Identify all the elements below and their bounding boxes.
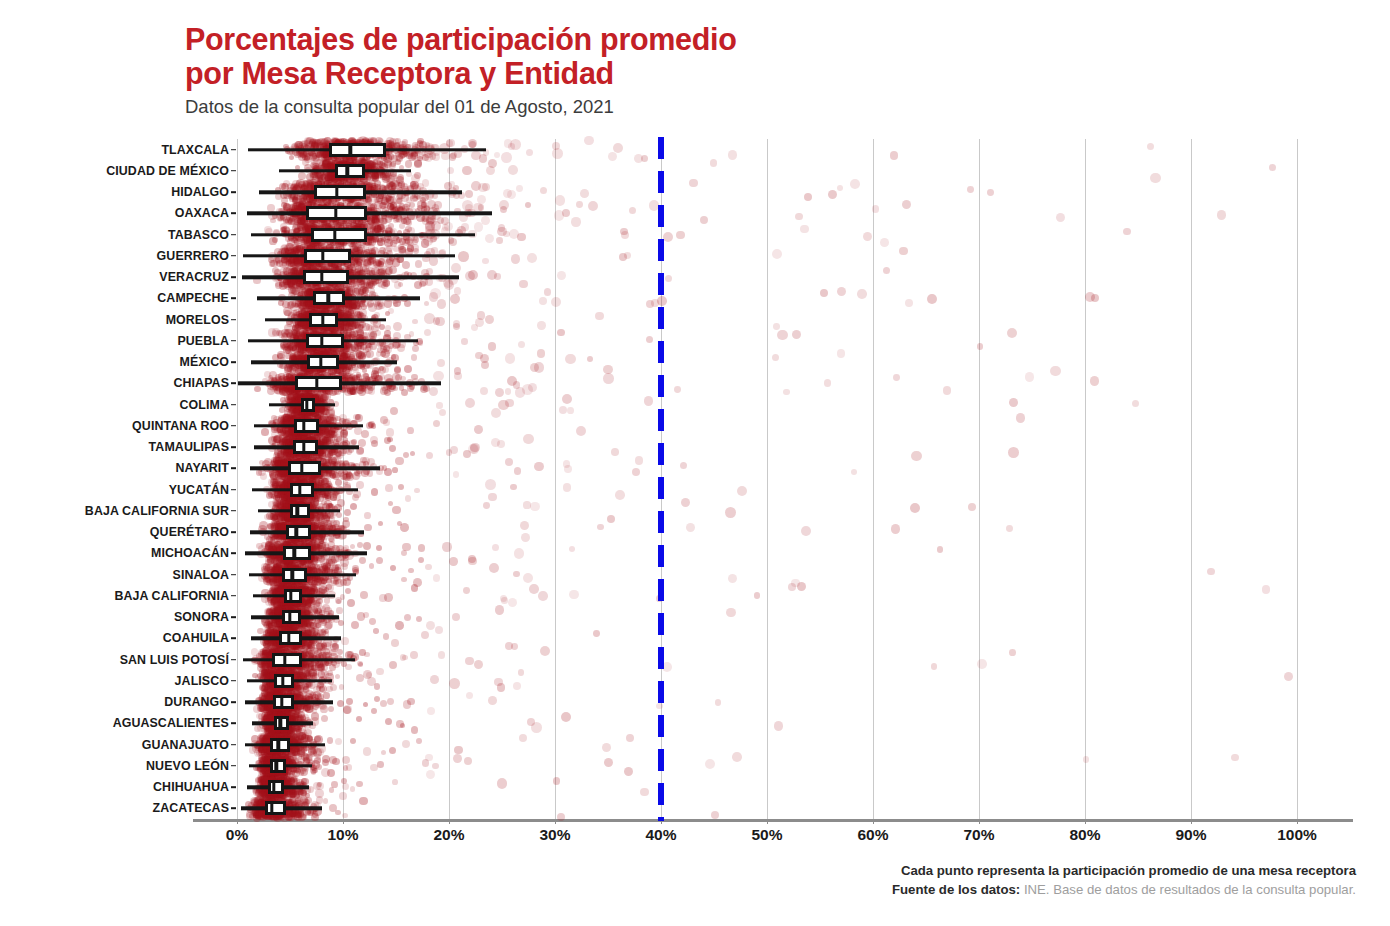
scatter-point xyxy=(345,146,351,152)
scatter-point xyxy=(346,176,354,184)
scatter-point xyxy=(401,550,407,556)
scatter-point xyxy=(269,729,275,735)
scatter-point xyxy=(289,528,297,536)
scatter-point xyxy=(350,738,357,745)
scatter-point xyxy=(294,722,302,730)
scatter-point xyxy=(391,354,399,362)
scatter-point xyxy=(274,716,279,721)
scatter-point xyxy=(328,536,334,542)
scatter-point xyxy=(283,726,292,735)
scatter-point xyxy=(417,138,424,145)
scatter-point xyxy=(268,665,274,671)
scatter-point xyxy=(302,313,309,320)
scatter-point xyxy=(505,388,511,394)
scatter-point xyxy=(291,631,296,636)
scatter-point xyxy=(321,573,329,581)
scatter-point xyxy=(295,504,303,512)
scatter-point xyxy=(358,439,366,447)
scatter-point xyxy=(372,215,380,223)
scatter-point xyxy=(298,528,304,534)
scatter-point xyxy=(324,251,331,258)
scatter-point xyxy=(287,743,293,749)
scatter-point xyxy=(311,580,318,587)
scatter-point xyxy=(301,747,307,753)
scatter-point xyxy=(324,409,331,416)
scatter-point xyxy=(284,545,291,552)
scatter-point xyxy=(271,724,278,731)
scatter-point xyxy=(308,527,313,532)
scatter-point xyxy=(360,234,366,240)
scatter-point xyxy=(350,139,355,144)
scatter-point xyxy=(265,770,273,778)
scatter-point xyxy=(303,652,310,659)
scatter-point xyxy=(271,670,278,677)
scatter-point xyxy=(363,227,370,234)
scatter-point xyxy=(314,202,320,208)
scatter-point xyxy=(283,267,292,276)
scatter-point xyxy=(348,217,357,226)
scatter-point xyxy=(305,324,312,331)
scatter-point xyxy=(275,612,280,617)
scatter-point xyxy=(279,659,287,667)
scatter-point xyxy=(347,196,352,201)
scatter-point xyxy=(262,661,270,669)
scatter-point xyxy=(326,343,331,348)
scatter-point xyxy=(331,615,336,620)
scatter-point xyxy=(317,150,324,157)
scatter-point xyxy=(308,399,313,404)
scatter-point xyxy=(328,504,335,511)
scatter-point xyxy=(302,190,309,197)
scatter-point xyxy=(279,260,287,268)
scatter-point xyxy=(299,600,308,609)
scatter-point xyxy=(335,277,342,284)
scatter-point xyxy=(292,513,298,519)
scatter-point xyxy=(303,150,309,156)
scatter-point xyxy=(279,626,286,633)
scatter-point xyxy=(326,365,332,371)
boxplot-whisker xyxy=(243,658,354,661)
scatter-point xyxy=(300,332,308,340)
scatter-point xyxy=(309,233,317,241)
scatter-point xyxy=(287,473,294,480)
scatter-point xyxy=(292,144,298,150)
scatter-point xyxy=(307,299,316,308)
scatter-point xyxy=(316,197,321,202)
scatter-point xyxy=(293,468,301,476)
scatter-point xyxy=(300,570,309,579)
scatter-point xyxy=(340,328,348,336)
scatter-point xyxy=(283,717,289,723)
scatter-point xyxy=(308,333,315,340)
scatter-point xyxy=(358,160,366,168)
scatter-point xyxy=(298,457,306,465)
scatter-point xyxy=(374,267,379,272)
scatter-point xyxy=(294,576,302,584)
scatter-point xyxy=(283,514,290,521)
scatter-point xyxy=(314,519,322,527)
scatter-point xyxy=(299,409,308,418)
scatter-point xyxy=(307,436,315,444)
scatter-point xyxy=(273,672,282,681)
scatter-point xyxy=(306,596,314,604)
scatter-point xyxy=(264,703,271,710)
scatter-point xyxy=(294,800,302,808)
scatter-point xyxy=(312,426,318,432)
scatter-point xyxy=(288,612,295,619)
scatter-point xyxy=(338,257,346,265)
scatter-point xyxy=(351,303,357,309)
scatter-point xyxy=(305,228,314,237)
scatter-point xyxy=(281,575,287,581)
scatter-point xyxy=(300,471,309,480)
scatter-point xyxy=(293,457,301,465)
scatter-point xyxy=(298,338,304,344)
scatter-point xyxy=(268,649,276,657)
scatter-point xyxy=(276,609,283,616)
scatter-point xyxy=(302,472,308,478)
scatter-point xyxy=(301,675,307,681)
scatter-point xyxy=(272,692,280,700)
scatter-point xyxy=(283,698,289,704)
scatter-point xyxy=(295,423,303,431)
scatter-point xyxy=(268,769,273,774)
scatter-point xyxy=(293,724,300,731)
scatter-point xyxy=(284,558,290,564)
scatter-point xyxy=(287,742,293,748)
scatter-point xyxy=(309,627,316,634)
scatter-point xyxy=(279,799,286,806)
scatter-point xyxy=(357,149,364,156)
scatter-point xyxy=(315,276,323,284)
scatter-point xyxy=(313,362,319,368)
scatter-point xyxy=(371,217,379,225)
scatter-point xyxy=(309,446,315,452)
scatter-point xyxy=(292,422,300,430)
scatter-point xyxy=(345,292,350,297)
scatter-point xyxy=(314,507,320,513)
scatter-point xyxy=(313,145,319,151)
scatter-point xyxy=(284,589,291,596)
scatter-point xyxy=(710,159,718,167)
scatter-point xyxy=(254,744,261,751)
scatter-point xyxy=(276,469,283,476)
scatter-point xyxy=(283,592,289,598)
scatter-point xyxy=(324,276,332,284)
scatter-point xyxy=(259,721,268,730)
scatter-point xyxy=(295,366,302,373)
scatter-point xyxy=(274,525,282,533)
scatter-point xyxy=(327,171,335,179)
scatter-point xyxy=(316,748,324,756)
scatter-point xyxy=(300,721,306,727)
scatter-point xyxy=(289,508,296,515)
scatter-point xyxy=(301,336,310,345)
scatter-point xyxy=(292,415,298,421)
scatter-point xyxy=(265,641,271,647)
scatter-point xyxy=(280,785,288,793)
scatter-point xyxy=(304,434,312,442)
scatter-point xyxy=(333,267,341,275)
scatter-point xyxy=(425,145,435,155)
scatter-point xyxy=(276,704,282,710)
scatter-point xyxy=(327,330,333,336)
scatter-point xyxy=(321,579,327,585)
scatter-point xyxy=(292,732,299,739)
scatter-point xyxy=(274,747,280,753)
scatter-point xyxy=(280,766,288,774)
scatter-point xyxy=(319,572,327,580)
scatter-point xyxy=(266,670,273,677)
scatter-point xyxy=(312,563,318,569)
scatter-point xyxy=(272,614,278,620)
scatter-point xyxy=(304,155,312,163)
scatter-point xyxy=(280,456,287,463)
scatter-point xyxy=(313,511,318,516)
scatter-point xyxy=(531,722,542,733)
scatter-point xyxy=(305,293,313,301)
scatter-point xyxy=(357,447,363,453)
scatter-point xyxy=(320,329,328,337)
scatter-point xyxy=(283,725,291,733)
scatter-point xyxy=(270,552,277,559)
scatter-point xyxy=(348,140,357,149)
scatter-point xyxy=(353,228,360,235)
scatter-point xyxy=(293,396,301,404)
scatter-point xyxy=(328,232,336,240)
scatter-point xyxy=(357,175,363,181)
scatter-point xyxy=(307,435,315,443)
y-axis-label-campeche: CAMPECHE xyxy=(157,291,229,305)
scatter-point xyxy=(284,553,289,558)
scatter-point xyxy=(289,483,295,489)
scatter-point xyxy=(278,671,284,677)
scatter-point xyxy=(281,527,288,534)
scatter-point xyxy=(347,195,355,203)
scatter-point xyxy=(279,736,286,743)
scatter-point xyxy=(281,571,290,580)
scatter-point xyxy=(264,766,272,774)
scatter-point xyxy=(424,206,430,212)
scatter-point xyxy=(279,612,285,618)
scatter-point xyxy=(292,580,298,586)
scatter-point xyxy=(301,653,306,658)
scatter-point xyxy=(264,670,270,676)
scatter-point xyxy=(328,429,335,436)
scatter-point xyxy=(295,206,303,214)
scatter-point xyxy=(305,448,312,455)
scatter-point xyxy=(285,557,292,564)
scatter-point xyxy=(281,631,288,638)
scatter-point xyxy=(389,138,396,145)
scatter-point xyxy=(309,530,316,537)
scatter-point xyxy=(277,769,285,777)
scatter-point xyxy=(272,801,281,810)
scatter-point xyxy=(344,186,350,192)
scatter-point xyxy=(303,459,309,465)
scatter-point xyxy=(324,520,332,528)
scatter-point xyxy=(302,224,309,231)
scatter-point xyxy=(360,172,365,177)
scatter-point xyxy=(301,295,309,303)
scatter-point xyxy=(271,588,278,595)
scatter-point xyxy=(301,247,308,254)
scatter-point xyxy=(329,184,336,191)
scatter-point xyxy=(301,317,309,325)
scatter-point xyxy=(286,564,294,572)
scatter-point xyxy=(269,470,274,475)
scatter-point xyxy=(300,415,307,422)
scatter-point xyxy=(292,208,300,216)
scatter-point xyxy=(277,613,284,620)
scatter-point xyxy=(315,693,324,702)
scatter-point xyxy=(300,418,306,424)
scatter-point xyxy=(269,543,275,549)
scatter-point xyxy=(285,740,293,748)
scatter-point xyxy=(430,236,437,243)
scatter-point xyxy=(274,566,280,572)
scatter-point xyxy=(338,346,346,354)
scatter-point xyxy=(298,427,306,435)
scatter-point xyxy=(294,689,302,697)
scatter-point xyxy=(304,568,311,575)
scatter-point xyxy=(304,557,310,563)
boxplot-median-line xyxy=(272,780,275,794)
scatter-point xyxy=(284,614,289,619)
scatter-point xyxy=(327,421,333,427)
scatter-point xyxy=(275,749,280,754)
scatter-point xyxy=(283,663,292,672)
scatter-point xyxy=(283,527,288,532)
scatter-point xyxy=(275,802,283,810)
scatter-point xyxy=(311,160,316,165)
scatter-point xyxy=(300,614,308,622)
scatter-point xyxy=(336,155,342,161)
boxplot-median-line xyxy=(293,546,296,560)
boxplot-median-line xyxy=(275,759,278,773)
scatter-point xyxy=(280,798,288,806)
scatter-point xyxy=(307,316,314,323)
scatter-point xyxy=(306,612,314,620)
scatter-point xyxy=(329,362,336,369)
scatter-point xyxy=(295,507,302,514)
scatter-point xyxy=(267,712,274,719)
scatter-point xyxy=(262,649,268,655)
scatter-point xyxy=(297,491,304,498)
scatter-point xyxy=(425,754,432,761)
scatter-point xyxy=(367,300,374,307)
scatter-point xyxy=(306,449,312,455)
scatter-point xyxy=(334,344,340,350)
scatter-point xyxy=(292,379,299,386)
scatter-point xyxy=(272,642,280,650)
scatter-point xyxy=(347,286,355,294)
scatter-point xyxy=(285,608,292,615)
scatter-point xyxy=(286,387,293,394)
scatter-point xyxy=(284,716,292,724)
scatter-point xyxy=(298,202,305,209)
scatter-point xyxy=(283,479,292,488)
scatter-point xyxy=(350,274,356,280)
scatter-point xyxy=(297,756,305,764)
scatter-point xyxy=(310,268,318,276)
scatter-point xyxy=(332,218,337,223)
scatter-point xyxy=(283,749,289,755)
scatter-point xyxy=(296,545,304,553)
scatter-point xyxy=(306,312,314,320)
scatter-point xyxy=(496,237,503,244)
scatter-point xyxy=(297,481,303,487)
scatter-point xyxy=(300,506,305,511)
scatter-point xyxy=(270,713,277,720)
scatter-point xyxy=(310,438,316,444)
scatter-point xyxy=(302,452,310,460)
scatter-point xyxy=(298,598,306,606)
scatter-point xyxy=(266,702,272,708)
scatter-point xyxy=(312,328,320,336)
scatter-point xyxy=(296,553,304,561)
scatter-point xyxy=(313,427,321,435)
scatter-point xyxy=(271,565,279,573)
scatter-point xyxy=(297,636,303,642)
scatter-point xyxy=(283,747,288,752)
scatter-point xyxy=(368,303,377,312)
scatter-point xyxy=(439,249,446,256)
scatter-point xyxy=(368,143,375,150)
scatter-point xyxy=(320,401,329,410)
scatter-point xyxy=(286,656,293,663)
scatter-point xyxy=(274,608,283,617)
scatter-point xyxy=(311,224,319,232)
scatter-point xyxy=(325,467,332,474)
scatter-point xyxy=(260,810,266,816)
scatter-point xyxy=(287,217,292,222)
scatter-point xyxy=(280,809,285,814)
scatter-point xyxy=(412,378,419,385)
scatter-point xyxy=(307,547,314,554)
scatter-point xyxy=(279,749,286,756)
scatter-point xyxy=(292,596,300,604)
scatter-point xyxy=(300,674,307,681)
scatter-point xyxy=(299,492,304,497)
scatter-point xyxy=(286,670,291,675)
scatter-point xyxy=(284,606,292,614)
scatter-point xyxy=(905,299,913,307)
scatter-point xyxy=(327,569,332,574)
scatter-point xyxy=(294,576,302,584)
scatter-point xyxy=(296,785,304,793)
scatter-point xyxy=(264,776,272,784)
scatter-point xyxy=(375,275,381,281)
scatter-point xyxy=(307,459,313,465)
scatter-point xyxy=(298,338,305,345)
scatter-point xyxy=(296,672,305,681)
scatter-point xyxy=(321,430,328,437)
scatter-point xyxy=(292,544,301,553)
scatter-point xyxy=(270,473,276,479)
scatter-point xyxy=(309,421,314,426)
scatter-point xyxy=(276,637,283,644)
scatter-point xyxy=(264,772,269,777)
scatter-point xyxy=(281,628,290,637)
scatter-point xyxy=(276,722,282,728)
scatter-point xyxy=(298,375,307,384)
scatter-point xyxy=(271,620,279,628)
scatter-point xyxy=(322,387,328,393)
scatter-point xyxy=(287,736,293,742)
scatter-point xyxy=(280,485,287,492)
scatter-point xyxy=(288,583,296,591)
